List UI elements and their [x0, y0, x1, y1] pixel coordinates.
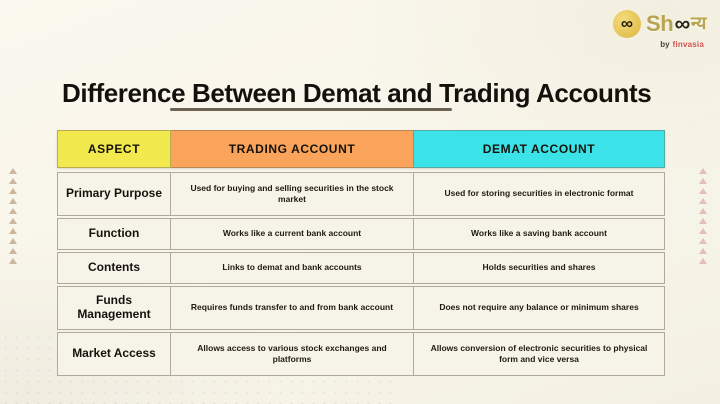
triangle-ornament — [9, 258, 17, 264]
triangle-ornament — [699, 228, 707, 234]
triangle-ornament — [9, 168, 17, 174]
cell-trading: Allows access to various stock exchanges… — [171, 332, 414, 376]
column-header-demat: DEMAT ACCOUNT — [414, 130, 665, 168]
logo-word-latin: Sh — [646, 13, 674, 35]
comparison-table: ASPECT TRADING ACCOUNT DEMAT ACCOUNT Pri… — [57, 130, 665, 378]
logo-word-devanagari: न्य — [691, 14, 706, 32]
triangle-ornament — [9, 238, 17, 244]
cell-aspect: Primary Purpose — [57, 172, 171, 216]
cell-demat: Used for storing securities in electroni… — [414, 172, 665, 216]
triangle-ornament — [9, 218, 17, 224]
triangle-ornament — [9, 228, 17, 234]
ornament-left-triangles — [9, 168, 17, 264]
page-title: Difference Between Demat and Trading Acc… — [62, 78, 651, 109]
title-underline — [170, 108, 452, 111]
table-row: FunctionWorks like a current bank accoun… — [57, 218, 665, 250]
triangle-ornament — [9, 208, 17, 214]
table-row: ContentsLinks to demat and bank accounts… — [57, 252, 665, 284]
cell-demat: Works like a saving bank account — [414, 218, 665, 250]
infinity-icon: ∞ — [613, 10, 641, 38]
triangle-ornament — [699, 238, 707, 244]
triangle-ornament — [9, 178, 17, 184]
triangle-ornament — [699, 248, 707, 254]
triangle-ornament — [699, 168, 707, 174]
cell-demat: Allows conversion of electronic securiti… — [414, 332, 665, 376]
logo-tagline: by finvasia — [660, 41, 704, 49]
table-body: Primary PurposeUsed for buying and selli… — [57, 172, 665, 376]
table-row: Funds ManagementRequires funds transfer … — [57, 286, 665, 330]
cell-aspect: Function — [57, 218, 171, 250]
logo-tagline-prefix: by — [660, 41, 669, 49]
triangle-ornament — [699, 178, 707, 184]
triangle-ornament — [9, 198, 17, 204]
triangle-ornament — [699, 218, 707, 224]
logo-word-infinity: ∞ — [674, 13, 689, 35]
triangle-ornament — [699, 198, 707, 204]
logo-tagline-brand: finvasia — [673, 41, 704, 49]
triangle-ornament — [699, 188, 707, 194]
shoonya-logo: ∞ Sh ∞ न्य by finvasia — [613, 10, 706, 49]
column-header-aspect: ASPECT — [57, 130, 171, 168]
cell-demat: Holds securities and shares — [414, 252, 665, 284]
slide-canvas: ∞ Sh ∞ न्य by finvasia Difference Betwee… — [0, 0, 720, 404]
triangle-ornament — [9, 248, 17, 254]
table-header-row: ASPECT TRADING ACCOUNT DEMAT ACCOUNT — [57, 130, 665, 168]
cell-trading: Works like a current bank account — [171, 218, 414, 250]
table-row: Primary PurposeUsed for buying and selli… — [57, 172, 665, 216]
logo-badge-symbol: ∞ — [621, 15, 633, 32]
cell-aspect: Funds Management — [57, 286, 171, 330]
cell-demat: Does not require any balance or minimum … — [414, 286, 665, 330]
cell-trading: Requires funds transfer to and from bank… — [171, 286, 414, 330]
cell-trading: Used for buying and selling securities i… — [171, 172, 414, 216]
logo-wordmark: Sh ∞ न्य — [646, 13, 706, 35]
cell-aspect: Contents — [57, 252, 171, 284]
cell-trading: Links to demat and bank accounts — [171, 252, 414, 284]
triangle-ornament — [699, 208, 707, 214]
triangle-ornament — [699, 258, 707, 264]
cell-aspect: Market Access — [57, 332, 171, 376]
ornament-right-triangles — [699, 168, 707, 264]
table-row: Market AccessAllows access to various st… — [57, 332, 665, 376]
column-header-trading: TRADING ACCOUNT — [171, 130, 414, 168]
logo-wordmark-row: ∞ Sh ∞ न्य — [613, 10, 706, 38]
triangle-ornament — [9, 188, 17, 194]
